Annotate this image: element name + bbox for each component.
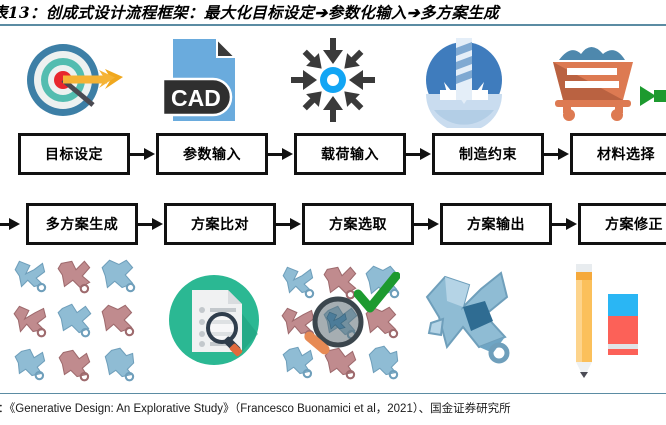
flow-box-goal-setting[interactable]: 目标设定 <box>18 133 130 175</box>
flow-row-1: 目标设定 参数输入 载荷输入 制造约束 材料选择 <box>0 132 666 176</box>
footer-divider <box>0 393 666 394</box>
arrow-connector-row2-start <box>0 217 26 231</box>
flow-box-material-selection[interactable]: 材料选择 <box>570 133 666 175</box>
design-variant <box>363 341 405 383</box>
source-reference: 《Generative Design: An Explorative Study… <box>10 403 431 415</box>
header-divider <box>0 24 666 26</box>
design-variant <box>99 299 141 341</box>
flow-box-label: 制造约束 <box>459 144 517 164</box>
green-check-icon <box>354 272 400 314</box>
source-prefix: ： <box>0 403 10 415</box>
flow-box-label: 方案输出 <box>467 214 525 234</box>
arrow-connector <box>414 217 440 231</box>
icon-cell-revision <box>536 248 666 392</box>
flow-box-label: 方案比对 <box>191 214 249 234</box>
flow-box-parameter-input[interactable]: 参数输入 <box>156 133 268 175</box>
icon-cell-comparison <box>152 248 276 392</box>
flow-box-label: 方案修正 <box>605 214 663 234</box>
flow-box-load-input[interactable]: 载荷输入 <box>294 133 406 175</box>
design-variant <box>11 343 53 385</box>
flow-row-2: 多方案生成 方案比对 方案选取 方案输出 方案修正 <box>0 202 666 246</box>
flow-box-manufacturing-constraint[interactable]: 制造约束 <box>432 133 544 175</box>
bottom-icon-strip <box>0 248 666 392</box>
arrow-connector <box>268 147 294 161</box>
svg-text:CAD: CAD <box>171 85 221 111</box>
flow-box-label: 参数输入 <box>183 144 241 164</box>
arrow-connector <box>138 217 164 231</box>
design-variant-grid-icon <box>11 255 141 385</box>
figure-header: 表13：创成式设计流程框架：最大化目标设定➔参数化输入➔多方案生成 <box>0 0 666 26</box>
icon-cell-variant-grid <box>0 248 152 392</box>
flow-box-label: 方案选取 <box>329 214 387 234</box>
document-magnifier-icon <box>166 272 262 368</box>
icon-cell-material <box>530 30 666 130</box>
design-variant <box>11 299 53 341</box>
single-design-output-icon <box>415 261 527 379</box>
arrow-connector <box>130 147 156 161</box>
design-variant <box>11 255 53 297</box>
top-icon-strip: CAD <box>0 30 666 130</box>
arrow-connector <box>276 217 302 231</box>
mining-cart-icon <box>545 38 641 122</box>
pencil-eraser-icon <box>556 260 646 380</box>
flow-box-label: 目标设定 <box>45 144 103 164</box>
icon-cell-drill <box>398 30 530 130</box>
arrow-connector <box>406 147 432 161</box>
icon-cell-selection <box>276 260 406 380</box>
converging-arrows-icon <box>289 36 377 124</box>
design-variant <box>99 343 141 385</box>
design-variant <box>55 255 97 297</box>
icon-cell-load <box>268 30 398 130</box>
flow-box-scheme-comparison[interactable]: 方案比对 <box>164 203 276 245</box>
target-arrow-icon <box>15 39 123 121</box>
flow-box-label: 多方案生成 <box>46 214 119 234</box>
design-variant <box>99 255 141 297</box>
figure-footer: ：《Generative Design: An Explorative Stud… <box>0 393 666 425</box>
design-variant <box>55 343 97 385</box>
source-organization: 国金证券研究所 <box>430 401 511 415</box>
flow-box-multi-scheme-generation[interactable]: 多方案生成 <box>26 203 138 245</box>
green-arrow-icon <box>640 82 666 110</box>
icon-cell-cad: CAD <box>138 30 268 130</box>
cad-file-icon: CAD <box>161 35 245 125</box>
icon-cell-target <box>0 30 138 130</box>
design-variant <box>55 299 97 341</box>
flow-box-label: 材料选择 <box>597 144 655 164</box>
flow-box-scheme-revision[interactable]: 方案修正 <box>578 203 666 245</box>
drill-bit-icon <box>418 32 510 128</box>
flow-box-scheme-output[interactable]: 方案输出 <box>440 203 552 245</box>
flow-box-label: 载荷输入 <box>321 144 379 164</box>
flow-box-scheme-selection[interactable]: 方案选取 <box>302 203 414 245</box>
figure-source: ：《Generative Design: An Explorative Stud… <box>0 400 511 416</box>
arrow-connector <box>552 217 578 231</box>
icon-cell-output <box>406 248 536 392</box>
arrow-connector <box>544 147 570 161</box>
figure-title: 表13：创成式设计流程框架：最大化目标设定➔参数化输入➔多方案生成 <box>0 1 499 23</box>
